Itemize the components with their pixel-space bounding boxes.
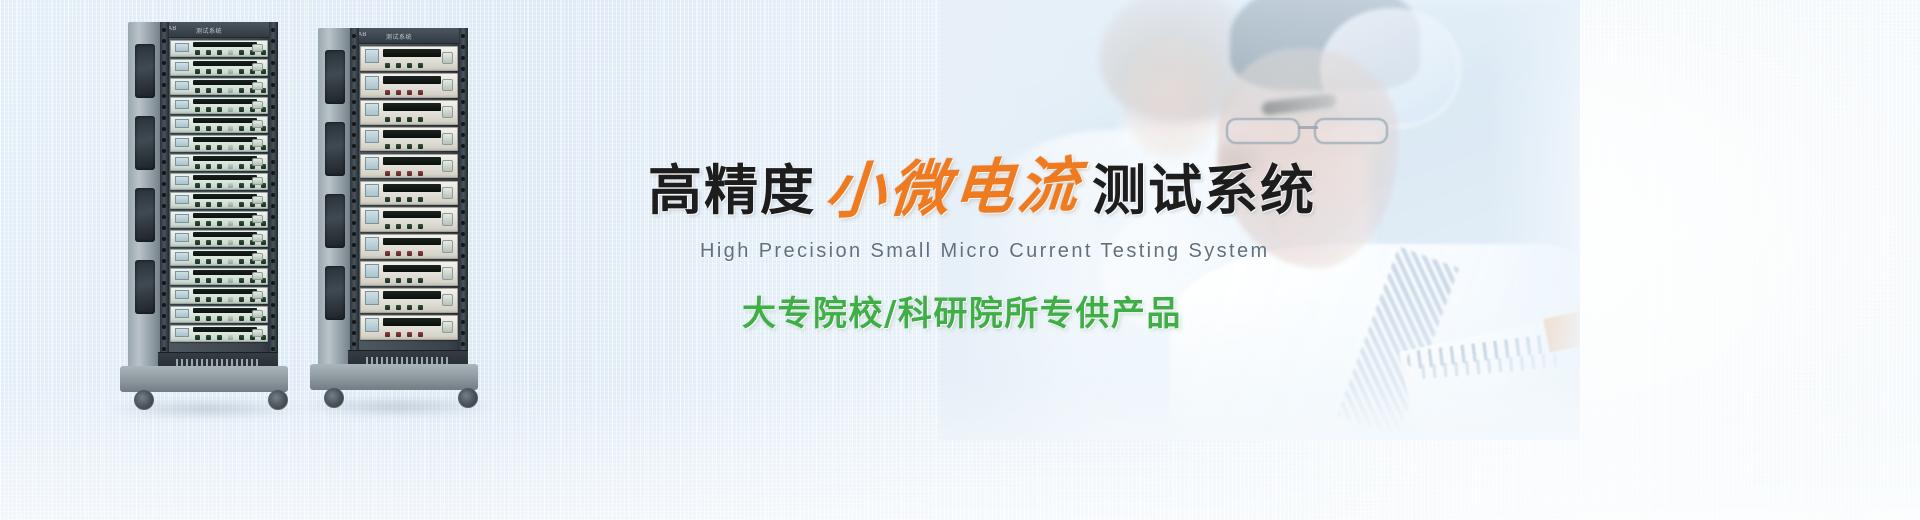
instrument-knob: [442, 294, 453, 306]
instrument-display: [175, 195, 189, 204]
instrument-button-row: [385, 171, 429, 176]
instrument-button: [418, 278, 423, 283]
rack-rail-hole: [352, 100, 356, 104]
instrument-button: [195, 297, 200, 302]
instrument-button: [396, 305, 401, 310]
instrument-readout-bar: [383, 184, 441, 192]
rack-rail-right: [459, 28, 468, 368]
instrument-button: [418, 197, 423, 202]
instrument-knob: [252, 329, 263, 337]
instrument-button: [228, 164, 233, 169]
instrument-display: [175, 290, 189, 299]
instrument-display: [175, 214, 189, 223]
instrument-readout-bar: [383, 291, 441, 299]
rack-rail-hole: [461, 78, 465, 82]
instrument-display: [365, 264, 379, 278]
rack-rail-hole: [271, 248, 275, 252]
rack-rail-hole: [162, 83, 166, 87]
instrument-button: [396, 90, 401, 95]
instrument-display: [365, 130, 379, 144]
instrument-button: [195, 88, 200, 93]
instrument-button: [195, 164, 200, 169]
instrument-display: [175, 62, 189, 71]
instrument-button: [407, 305, 412, 310]
instrument-display: [365, 157, 379, 171]
instrument-button: [206, 88, 211, 93]
rack-frame-vent: [325, 194, 345, 248]
instrument-button-row: [385, 197, 429, 202]
rack-instrument-unit: [170, 40, 268, 57]
instrument-button: [195, 126, 200, 131]
rack-rail-hole: [461, 122, 465, 126]
instrument-display: [175, 138, 189, 147]
rack-rail-hole: [461, 111, 465, 115]
instrument-knob: [252, 215, 263, 223]
rack-frame-vent: [135, 116, 155, 170]
instrument-display: [365, 76, 379, 90]
rack-top-bar: LAB 测试系统: [348, 28, 468, 44]
rack-rail-hole: [271, 149, 275, 153]
rack-rail-hole: [461, 56, 465, 60]
instrument-button: [239, 221, 244, 226]
rack-instrument-unit: [170, 59, 268, 76]
rack-rail-hole: [352, 144, 356, 148]
instrument-readout-bar: [383, 265, 441, 273]
instrument-button: [239, 145, 244, 150]
rack-rail-hole: [461, 320, 465, 324]
rack-rail-hole: [461, 188, 465, 192]
instrument-button: [239, 126, 244, 131]
rack-rail-hole: [352, 232, 356, 236]
rack-rail-hole: [162, 336, 166, 340]
instrument-display: [365, 103, 379, 117]
instrument-button: [206, 50, 211, 55]
rack-rail-hole: [461, 331, 465, 335]
rack-rail-hole: [162, 149, 166, 153]
instrument-button: [195, 259, 200, 264]
instrument-button: [418, 332, 423, 337]
instrument-button: [385, 278, 390, 283]
instrument-button: [206, 107, 211, 112]
rack-rail-hole: [352, 265, 356, 269]
instrument-button: [228, 316, 233, 321]
instrument-button: [195, 316, 200, 321]
instrument-button: [228, 145, 233, 150]
rack-rail-hole: [271, 193, 275, 197]
instrument-button: [195, 145, 200, 150]
rack-rail-hole: [271, 314, 275, 318]
instrument-button: [418, 224, 423, 229]
rack-rail-hole: [352, 133, 356, 137]
instrument-button: [396, 63, 401, 68]
instrument-button: [217, 240, 222, 245]
rack-rail-hole: [271, 83, 275, 87]
instrument-knob: [252, 253, 263, 261]
instrument-button: [217, 164, 222, 169]
rack-plinth-label: [176, 359, 260, 366]
rack-rail-hole: [162, 303, 166, 307]
instrument-button: [407, 90, 412, 95]
rack-instrument-unit: [170, 192, 268, 209]
rack-rail-hole: [461, 166, 465, 170]
instrument-button: [385, 197, 390, 202]
instrument-button: [239, 259, 244, 264]
instrument-knob: [252, 272, 263, 280]
instrument-button-row: [385, 305, 429, 310]
rack-instrument-unit: [170, 211, 268, 228]
rack-frame-vent: [135, 188, 155, 242]
instrument-display: [175, 81, 189, 90]
rack-instrument-unit: [170, 287, 268, 304]
instrument-button: [239, 50, 244, 55]
instrument-button: [195, 202, 200, 207]
instrument-knob: [252, 196, 263, 204]
instrument-button: [239, 240, 244, 245]
instrument-button: [418, 305, 423, 310]
instrument-button: [418, 63, 423, 68]
rack-rail-hole: [162, 28, 166, 32]
instrument-button: [228, 126, 233, 131]
instrument-display: [365, 237, 379, 251]
instrument-button: [407, 197, 412, 202]
instrument-button: [396, 332, 401, 337]
instrument-button: [195, 221, 200, 226]
instrument-button: [206, 240, 211, 245]
instrument-button: [396, 224, 401, 229]
rack-instrument-unit: [360, 207, 458, 232]
instrument-readout-bar: [383, 130, 441, 138]
instrument-readout-bar: [193, 80, 257, 85]
instrument-button: [228, 259, 233, 264]
instrument-button: [228, 202, 233, 207]
instrument-button: [418, 90, 423, 95]
rack-rail-hole: [352, 276, 356, 280]
instrument-button: [228, 69, 233, 74]
rack-rail-hole: [162, 50, 166, 54]
rack-instrument-unit: [170, 97, 268, 114]
rack-rail-hole: [162, 292, 166, 296]
instrument-readout-bar: [193, 99, 257, 104]
instrument-button: [239, 164, 244, 169]
rack-rail-hole: [352, 309, 356, 313]
rack-rail-hole: [271, 72, 275, 76]
rack-rail-hole: [271, 138, 275, 142]
instrument-button-row: [385, 224, 429, 229]
instrument-button: [217, 297, 222, 302]
rack-instrument-unit: [360, 100, 458, 125]
instrument-button: [385, 63, 390, 68]
rack-rail-hole: [271, 226, 275, 230]
rack-rail-hole: [461, 309, 465, 313]
rack-instrument-unit: [360, 261, 458, 286]
instrument-button: [396, 171, 401, 176]
instrument-button: [206, 221, 211, 226]
rack-rail-hole: [461, 221, 465, 225]
rack-rail-hole: [461, 133, 465, 137]
instrument-button: [217, 259, 222, 264]
instrument-readout-bar: [383, 76, 441, 84]
rack-instrument-unit: [170, 306, 268, 323]
rack-rail-hole: [271, 303, 275, 307]
instrument-button: [418, 251, 423, 256]
rack-rail-hole: [271, 281, 275, 285]
rack-rail-hole: [352, 177, 356, 181]
instrument-readout-bar: [193, 232, 257, 237]
instrument-button: [217, 202, 222, 207]
instrument-button: [217, 145, 222, 150]
rack-rail-left: [160, 22, 169, 370]
instrument-display: [365, 210, 379, 224]
rack-rail-hole: [271, 94, 275, 98]
rack-rail-hole: [271, 237, 275, 241]
rack-frame-vent: [325, 266, 345, 320]
instrument-readout-bar: [193, 308, 257, 313]
rack-rail-hole: [162, 94, 166, 98]
rack-rail-hole: [271, 160, 275, 164]
rack-plinth-label: [366, 357, 450, 364]
instrument-button: [239, 316, 244, 321]
rack-rail-hole: [352, 320, 356, 324]
instrument-button: [385, 171, 390, 176]
rack-rail-hole: [271, 292, 275, 296]
rack-rail-hole: [352, 210, 356, 214]
rack-rail-hole: [461, 177, 465, 181]
instrument-display: [365, 318, 379, 332]
instrument-knob: [442, 160, 453, 172]
rack-rail-hole: [162, 215, 166, 219]
rack-frame-vent: [325, 50, 345, 104]
instrument-display: [175, 157, 189, 166]
rack-rail-hole: [461, 89, 465, 93]
instrument-knob: [442, 213, 453, 225]
rack-frame-vent: [325, 122, 345, 176]
instrument-knob: [252, 310, 263, 318]
rack-rail-hole: [271, 50, 275, 54]
instrument-button: [385, 332, 390, 337]
instrument-button: [396, 251, 401, 256]
rack-rail-hole: [162, 204, 166, 208]
rack-rail-hole: [461, 34, 465, 38]
rack-rail-hole: [461, 67, 465, 71]
instrument-readout-bar: [193, 61, 257, 66]
rack-rail-hole: [271, 270, 275, 274]
bottom-fade: [0, 380, 1920, 520]
instrument-button: [195, 50, 200, 55]
instrument-button: [206, 183, 211, 188]
rack-rail-hole: [162, 325, 166, 329]
instrument-button: [407, 171, 412, 176]
instrument-button: [195, 240, 200, 245]
instrument-knob: [442, 106, 453, 118]
rack-rail-hole: [461, 276, 465, 280]
rack-rail-hole: [461, 298, 465, 302]
rack-instrument-unit: [170, 268, 268, 285]
instrument-button: [228, 88, 233, 93]
instrument-knob: [442, 267, 453, 279]
rack-rail-hole: [461, 287, 465, 291]
instrument-button-row: [385, 90, 429, 95]
rack-rail-hole: [352, 78, 356, 82]
rack-instrument-unit: [360, 46, 458, 71]
rack-instrument-unit: [360, 234, 458, 259]
rack-rail-hole: [461, 199, 465, 203]
instrument-knob: [442, 79, 453, 91]
instrument-button: [228, 335, 233, 340]
rack-rail-hole: [461, 342, 465, 346]
instrument-readout-bar: [383, 103, 441, 111]
rack-rail-hole: [352, 342, 356, 346]
instrument-button: [396, 144, 401, 149]
rack-rail-hole: [162, 105, 166, 109]
rack-rail-hole: [352, 34, 356, 38]
rack-rail-hole: [271, 28, 275, 32]
instrument-display: [175, 233, 189, 242]
rack-rail-hole: [271, 171, 275, 175]
instrument-button: [407, 63, 412, 68]
equipment-rack-green: LAB 测试系统: [128, 22, 278, 370]
rack-rail-hole: [461, 243, 465, 247]
rack-rail-hole: [162, 347, 166, 351]
instrument-button: [239, 88, 244, 93]
rack-rail-hole: [352, 89, 356, 93]
instrument-button: [239, 69, 244, 74]
rack-instrument-unit: [170, 78, 268, 95]
instrument-button: [239, 297, 244, 302]
rack-rail-hole: [162, 116, 166, 120]
rack-rail-hole: [271, 325, 275, 329]
instrument-button: [396, 278, 401, 283]
rack-rail-hole: [461, 100, 465, 104]
instrument-button: [228, 240, 233, 245]
rack-frame-vent: [135, 260, 155, 314]
instrument-button: [217, 183, 222, 188]
instrument-button: [228, 297, 233, 302]
instrument-knob: [252, 120, 263, 128]
rack-instrument-unit: [170, 325, 268, 342]
rack-rail-hole: [352, 188, 356, 192]
rack-instrument-unit: [360, 288, 458, 313]
instrument-button: [239, 335, 244, 340]
instrument-readout-bar: [193, 137, 257, 142]
instrument-button: [206, 316, 211, 321]
instrument-readout-bar: [193, 251, 257, 256]
rack-instrument-unit: [170, 135, 268, 152]
instrument-button: [228, 50, 233, 55]
instrument-readout-bar: [193, 156, 257, 161]
instrument-display: [175, 252, 189, 261]
instrument-button-row: [385, 278, 429, 283]
instrument-button: [407, 117, 412, 122]
instrument-readout-bar: [383, 211, 441, 219]
instrument-button: [418, 144, 423, 149]
rack-rail-hole: [271, 182, 275, 186]
rack-instrument-unit: [170, 116, 268, 133]
instrument-button: [195, 107, 200, 112]
rack-rail-hole: [271, 336, 275, 340]
rack-rail-hole: [162, 138, 166, 142]
instrument-button: [206, 126, 211, 131]
rack-left-frame: [128, 22, 162, 370]
instrument-readout-bar: [193, 42, 257, 47]
instrument-button-row: [385, 63, 429, 68]
instrument-button: [228, 183, 233, 188]
instrument-knob: [442, 133, 453, 145]
rack-rail-hole: [271, 127, 275, 131]
rack-instrument-unit: [360, 315, 458, 340]
rack-rail-hole: [162, 193, 166, 197]
rack-rail-hole: [461, 210, 465, 214]
rack-instrument-unit: [360, 73, 458, 98]
instrument-knob: [252, 291, 263, 299]
instrument-button: [206, 297, 211, 302]
rack-instrument-unit: [360, 127, 458, 152]
instrument-knob: [252, 82, 263, 90]
instrument-readout-bar: [193, 194, 257, 199]
rack-rail-hole: [352, 221, 356, 225]
rack-rail-hole: [461, 254, 465, 258]
instrument-button: [217, 107, 222, 112]
instrument-button: [385, 117, 390, 122]
instrument-display: [365, 184, 379, 198]
instrument-button: [217, 335, 222, 340]
instrument-button: [396, 197, 401, 202]
rack-rail-left: [350, 28, 359, 368]
instrument-button: [217, 69, 222, 74]
rack-top-bar: LAB 测试系统: [158, 22, 278, 38]
instrument-readout-bar: [193, 175, 257, 180]
instrument-button: [239, 107, 244, 112]
rack-rail-hole: [271, 61, 275, 65]
rack-instrument-unit: [360, 181, 458, 206]
rack-rail-hole: [271, 204, 275, 208]
rack-rail-hole: [162, 171, 166, 175]
instrument-button: [407, 224, 412, 229]
instrument-button: [217, 88, 222, 93]
rack-rail-hole: [461, 155, 465, 159]
instrument-readout-bar: [383, 238, 441, 246]
photo-fade-mask: [940, 0, 1580, 440]
instrument-button: [206, 335, 211, 340]
instrument-button: [217, 50, 222, 55]
instrument-button: [228, 278, 233, 283]
rack-instrument-unit: [170, 154, 268, 171]
rack-rail-hole: [162, 237, 166, 241]
instrument-button: [206, 164, 211, 169]
rack-rail-hole: [162, 127, 166, 131]
instrument-button: [407, 144, 412, 149]
instrument-readout-bar: [383, 157, 441, 165]
instrument-display: [175, 43, 189, 52]
rack-rail-hole: [352, 122, 356, 126]
instrument-knob: [252, 177, 263, 185]
rack-rail-hole: [352, 56, 356, 60]
rack-model-label: 测试系统: [196, 26, 222, 35]
rack-rail-hole: [352, 166, 356, 170]
rack-rail-hole: [461, 144, 465, 148]
instrument-button: [385, 251, 390, 256]
rack-rail-hole: [271, 105, 275, 109]
instrument-display: [175, 119, 189, 128]
instrument-display: [365, 291, 379, 305]
rack-model-label: 测试系统: [386, 32, 412, 41]
rack-rail-right: [269, 22, 278, 370]
instrument-button: [385, 224, 390, 229]
promo-banner: LAB 测试系统 LAB 测试系统 高精度: [0, 0, 1920, 520]
instrument-knob: [252, 44, 263, 52]
instrument-display: [365, 49, 379, 63]
rack-instrument-unit: [170, 249, 268, 266]
instrument-display: [175, 309, 189, 318]
